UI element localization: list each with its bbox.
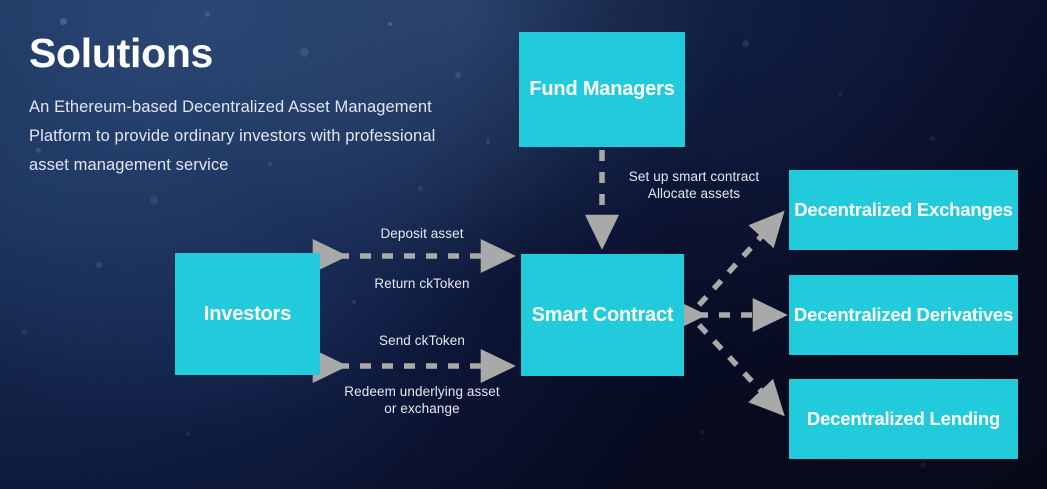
node-investors-label: Investors	[204, 302, 291, 326]
edge-label-send-cktoken: Send ckToken	[342, 332, 502, 349]
edge-label-return-cktoken: Return ckToken	[342, 275, 502, 292]
solutions-slide: Solutions An Ethereum-based Decentralize…	[0, 0, 1047, 489]
node-decentralized-derivatives[interactable]: Decentralized Derivatives	[789, 275, 1018, 355]
page-subtitle: An Ethereum-based Decentralized Asset Ma…	[29, 93, 479, 180]
node-smart-contract-label: Smart Contract	[532, 303, 674, 327]
node-decentralized-exchanges-label: Decentralized Exchanges	[794, 199, 1013, 222]
edge-label-deposit-asset: Deposit asset	[342, 225, 502, 242]
node-investors[interactable]: Investors	[175, 253, 320, 375]
node-decentralized-derivatives-label: Decentralized Derivatives	[794, 304, 1013, 327]
page-title: Solutions	[29, 30, 213, 77]
node-fund-managers-label: Fund Managers	[529, 77, 674, 101]
arrow-smart-to-lending	[699, 325, 778, 409]
node-decentralized-lending-label: Decentralized Lending	[807, 408, 1000, 431]
arrow-smart-to-exchanges	[699, 218, 778, 305]
node-decentralized-lending[interactable]: Decentralized Lending	[789, 379, 1018, 459]
edge-label-redeem-underlying: Redeem underlying asset or exchange	[342, 383, 502, 417]
node-decentralized-exchanges[interactable]: Decentralized Exchanges	[789, 170, 1018, 250]
edge-label-setup-contract: Set up smart contract Allocate assets	[614, 168, 774, 202]
node-fund-managers[interactable]: Fund Managers	[519, 32, 685, 147]
node-smart-contract[interactable]: Smart Contract	[521, 254, 684, 376]
